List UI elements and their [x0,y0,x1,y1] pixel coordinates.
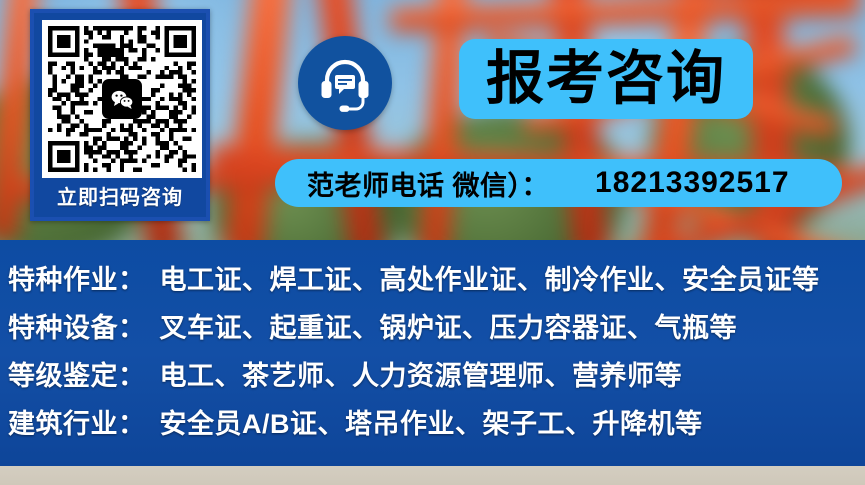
contact-label: 范老师电话 微信）： [307,164,549,203]
category-label: 建筑行业： [8,402,146,441]
category-items: 电工证、焊工证、高处作业证、制冷作业、安全员证等 [160,258,820,297]
category-label: 特种作业： [8,258,146,297]
category-items: 安全员A/B证、塔吊作业、架子工、升降机等 [160,402,703,441]
contact-banner[interactable]: 范老师电话 微信）： 18213392517 [275,159,842,207]
course-category-panel: 特种作业： 电工证、焊工证、高处作业证、制冷作业、安全员证等 特种设备： 叉车证… [0,240,865,466]
headset-support-icon [313,51,377,115]
qr-caption-label: 立即扫码咨询 [34,183,206,213]
list-item: 特种作业： 电工证、焊工证、高处作业证、制冷作业、安全员证等 [8,258,865,306]
category-label: 特种设备： [8,306,146,345]
list-item: 建筑行业： 安全员A/B证、塔吊作业、架子工、升降机等 [8,402,865,450]
headset-support-badge [298,36,392,130]
promo-poster: 立即扫码咨询 报考咨询 范老师电话 微信）： 18213392517 特种作业：… [0,0,865,485]
page-title: 报考咨询 [486,50,726,108]
wechat-logo-icon [102,79,142,119]
qr-code-image[interactable] [42,20,202,178]
qr-code-card[interactable]: 立即扫码咨询 [30,9,210,221]
category-items: 电工、茶艺师、人力资源管理师、营养师等 [160,354,683,393]
category-label: 等级鉴定： [8,354,146,393]
list-item: 等级鉴定： 电工、茶艺师、人力资源管理师、营养师等 [8,354,865,402]
title-banner: 报考咨询 [459,39,753,119]
category-items: 叉车证、起重证、锅炉证、压力容器证、气瓶等 [160,306,738,345]
list-item: 特种设备： 叉车证、起重证、锅炉证、压力容器证、气瓶等 [8,306,865,354]
contact-phone-number[interactable]: 18213392517 [595,166,790,200]
